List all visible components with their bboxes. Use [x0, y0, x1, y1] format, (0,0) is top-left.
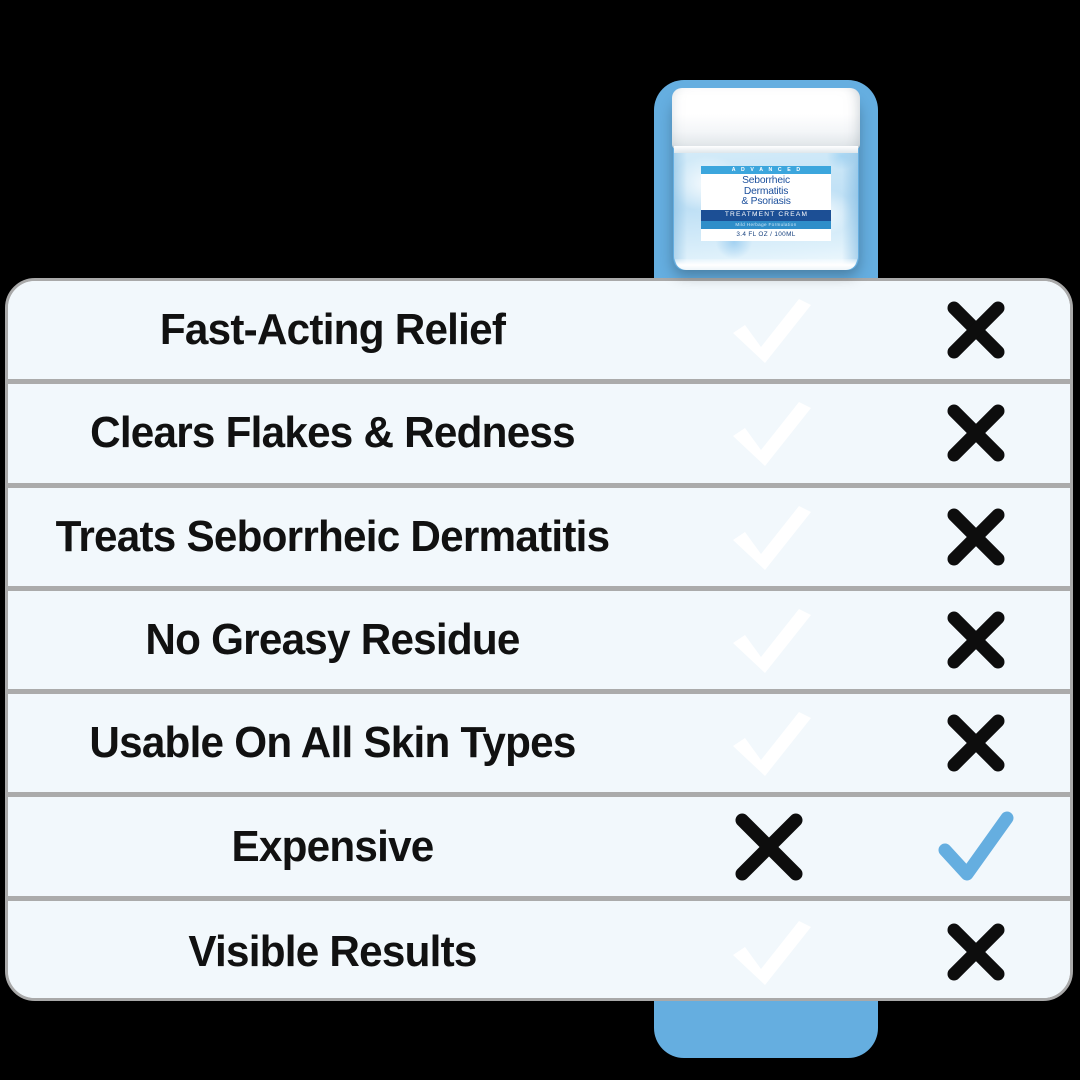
product-mark-cell [657, 797, 881, 895]
feature-label: Fast-Acting Relief [21, 307, 644, 353]
table-row: Treats Seborrheic Dermatitis [8, 488, 1070, 591]
check-icon [721, 498, 817, 576]
cross-icon [944, 505, 1008, 569]
feature-label: Visible Results [21, 929, 644, 975]
others-mark-cell [881, 694, 1070, 792]
others-mark-cell [881, 591, 1070, 689]
others-mark-cell [881, 488, 1070, 586]
cross-icon [944, 711, 1008, 775]
feature-label: Treats Seborrheic Dermatitis [21, 514, 644, 560]
feature-label: Clears Flakes & Redness [21, 410, 644, 456]
product-mark-cell [657, 281, 881, 379]
table-row: Expensive [8, 797, 1070, 900]
product-mark-cell [657, 384, 881, 482]
check-icon [721, 704, 817, 782]
product-mark-cell [657, 694, 881, 792]
comparison-table: Fast-Acting Relief Clears Flakes & Redne… [5, 278, 1073, 1001]
table-row: Visible Results [8, 901, 1070, 1001]
cross-icon [944, 298, 1008, 362]
check-icon [721, 291, 817, 369]
check-icon [721, 394, 817, 472]
label-subtitle: Mild Herbage Formulation [701, 221, 831, 229]
table-row: Fast-Acting Relief [8, 281, 1070, 384]
feature-label: Expensive [21, 824, 644, 870]
cross-icon [944, 608, 1008, 672]
label-name-block: Seborrheic Dermatitis & Psoriasis [701, 174, 831, 210]
table-row: Clears Flakes & Redness [8, 384, 1070, 487]
jar-lid [672, 88, 860, 150]
table-row: No Greasy Residue [8, 591, 1070, 694]
jar-lid-rim [674, 146, 858, 153]
label-size: 3.4 FL OZ / 100ML [701, 229, 831, 241]
label-name-line-3: & Psoriasis [701, 197, 831, 208]
cross-icon [730, 808, 808, 886]
product-mark-cell [657, 488, 881, 586]
product-mark-cell [657, 591, 881, 689]
check-icon [721, 601, 817, 679]
others-mark-cell [881, 384, 1070, 482]
cross-icon [944, 920, 1008, 984]
product-jar-image: A D V A N C E D Seborrheic Dermatitis & … [669, 88, 863, 270]
label-product-type: TREATMENT CREAM [701, 210, 831, 221]
others-mark-cell [881, 281, 1070, 379]
feature-label: Usable On All Skin Types [21, 720, 644, 766]
label-eyebrow: A D V A N C E D [701, 166, 831, 174]
feature-label: No Greasy Residue [21, 617, 644, 663]
others-mark-cell [881, 901, 1070, 1001]
comparison-graphic: A D V A N C E D Seborrheic Dermatitis & … [0, 0, 1080, 1080]
others-mark-cell [881, 797, 1070, 895]
check-icon [935, 810, 1017, 884]
table-row: Usable On All Skin Types [8, 694, 1070, 797]
check-icon [721, 913, 817, 991]
jar-label: A D V A N C E D Seborrheic Dermatitis & … [701, 166, 831, 241]
cross-icon [944, 401, 1008, 465]
jar-base [675, 259, 857, 270]
product-mark-cell [657, 901, 881, 1001]
